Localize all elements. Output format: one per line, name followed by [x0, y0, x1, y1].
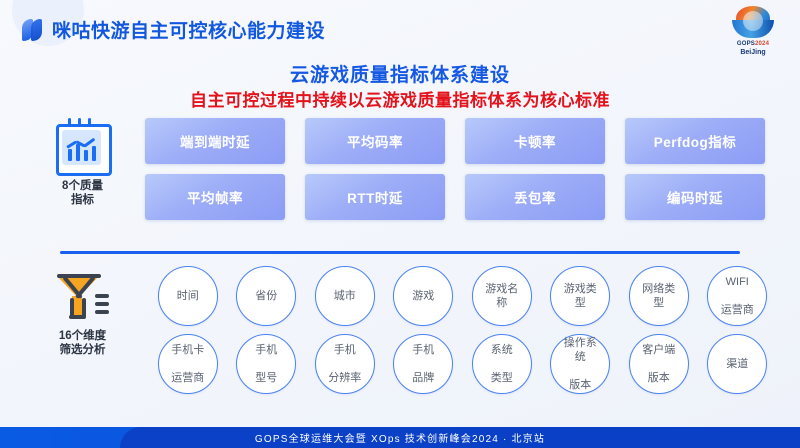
metric-card[interactable]: 编码时延	[625, 174, 765, 220]
metric-card[interactable]: 平均帧率	[145, 174, 285, 220]
metrics-section: 8个质量 指标 端到端时延 平均码率 卡顿率 Perfdog指标 平均帧率 RT…	[0, 112, 800, 244]
gops-logo-mark	[730, 6, 776, 40]
dimension-pill[interactable]: 游戏类型	[550, 266, 610, 326]
filter-funnel-icon	[55, 268, 111, 324]
metric-card[interactable]: Perfdog指标	[625, 118, 765, 164]
metric-card[interactable]: 平均码率	[305, 118, 445, 164]
slide-header: 咪咕快游自主可控核心能力建设 GOPS2024 BeiJing	[0, 0, 800, 58]
metrics-side-label: 8个质量 指标	[35, 116, 130, 207]
chart-board-icon	[54, 116, 112, 174]
dimensions-label-text: 16个维度 筛选分析	[35, 329, 130, 357]
sub-heading: 自主可控过程中持续以云游戏质量指标体系为核心标准	[0, 86, 800, 111]
metric-card[interactable]: RTT时延	[305, 174, 445, 220]
page-title: 咪咕快游自主可控核心能力建设	[52, 16, 325, 43]
dimension-pill[interactable]: 手机卡运营商	[158, 334, 218, 394]
dimension-pill[interactable]: 手机型号	[236, 334, 296, 394]
metric-card[interactable]: 端到端时延	[145, 118, 285, 164]
dimension-pill[interactable]: 省份	[236, 266, 296, 326]
dimension-pill[interactable]: 游戏	[393, 266, 453, 326]
dimension-pill[interactable]: 操作系统版本	[550, 334, 610, 394]
gops-logo-line1: GOPS2024	[722, 40, 784, 48]
metric-card-grid: 端到端时延 平均码率 卡顿率 Perfdog指标 平均帧率 RTT时延 丢包率 …	[145, 118, 765, 220]
dimension-pill[interactable]: 客户端版本	[629, 334, 689, 394]
dimension-pill[interactable]: 游戏名称	[472, 266, 532, 326]
gops-logo: GOPS2024 BeiJing	[722, 6, 784, 56]
dimension-pill[interactable]: 时间	[158, 266, 218, 326]
dimensions-side-label: 16个维度 筛选分析	[35, 268, 130, 357]
metrics-label-text: 8个质量 指标	[35, 179, 130, 207]
dimension-pill[interactable]: 网络类型	[629, 266, 689, 326]
metric-card[interactable]: 卡顿率	[465, 118, 605, 164]
main-heading: 云游戏质量指标体系建设	[0, 60, 800, 87]
footer-text: GOPS全球运维大会暨 XOps 技术创新峰会2024 · 北京站	[0, 427, 800, 448]
dimensions-section: 16个维度 筛选分析 时间 省份 城市 游戏 游戏名称 游戏类型 网络类型 WI…	[0, 266, 800, 396]
brand-bullet-icon	[22, 19, 44, 41]
dimension-pill[interactable]: 手机品牌	[393, 334, 453, 394]
metric-card[interactable]: 丢包率	[465, 174, 605, 220]
section-divider	[60, 251, 740, 254]
dimension-pill[interactable]: WIFI运营商	[707, 266, 767, 326]
dimension-pill[interactable]: 手机分辨率	[315, 334, 375, 394]
dimension-pill[interactable]: 城市	[315, 266, 375, 326]
dimension-pill[interactable]: 系统类型	[472, 334, 532, 394]
slide-canvas: 咪咕快游自主可控核心能力建设 GOPS2024 BeiJing 云游戏质量指标体…	[0, 0, 800, 448]
dimension-pill[interactable]: 渠道	[707, 334, 767, 394]
gops-logo-line2: BeiJing	[722, 48, 784, 57]
dimension-pill-grid: 时间 省份 城市 游戏 游戏名称 游戏类型 网络类型 WIFI运营商 手机卡运营…	[150, 266, 775, 394]
